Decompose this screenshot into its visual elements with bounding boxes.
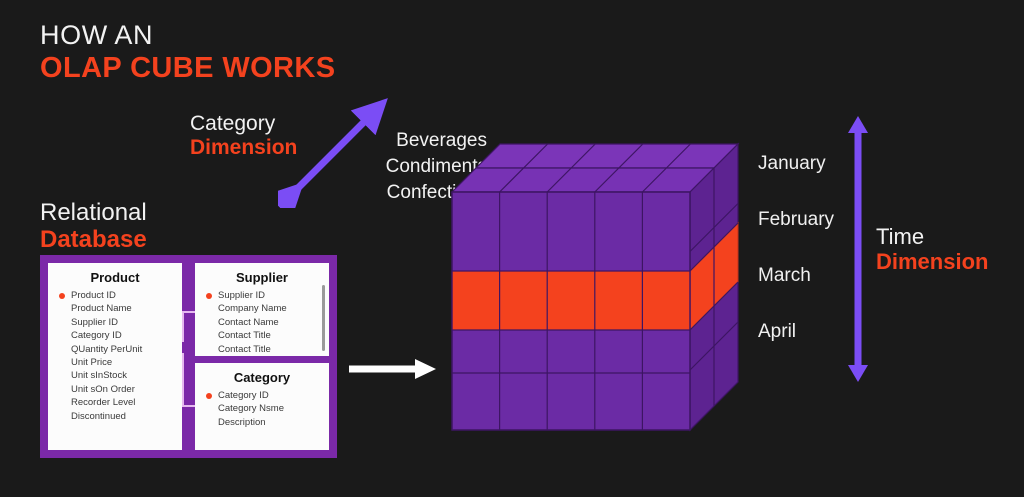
db-table-title: Supplier bbox=[195, 270, 329, 285]
time-member: February bbox=[758, 206, 858, 262]
time-dimension-heading: Time Dimension bbox=[876, 224, 988, 274]
db-field: Category Nsme bbox=[205, 402, 329, 415]
db-field-list: Product ID Product Name Supplier ID Cate… bbox=[48, 289, 182, 423]
db-field: Contact Name bbox=[205, 316, 329, 329]
db-field: Discontinued bbox=[58, 410, 182, 423]
db-field: Contact Title bbox=[205, 343, 329, 356]
olap-cube-infographic: HOW AN OLAP CUBE WORKS Category Dimensio… bbox=[0, 0, 1024, 497]
cube-right-face bbox=[690, 144, 738, 430]
relational-database-heading-bottom: Database bbox=[40, 227, 147, 254]
relation-connector-category-vertical bbox=[182, 353, 184, 407]
relation-connector-supplier-vertical bbox=[182, 311, 184, 341]
db-table-supplier[interactable]: Supplier Supplier ID Company Name Contac… bbox=[195, 263, 329, 356]
time-dimension-heading-top: Time bbox=[876, 224, 988, 249]
time-member: January bbox=[758, 150, 858, 206]
db-field: Product Name bbox=[58, 302, 182, 315]
relational-database-panel: Product Product ID Product Name Supplier… bbox=[40, 255, 337, 458]
time-dimension-members: January February March April bbox=[758, 150, 858, 374]
time-dimension-arrow-icon bbox=[846, 116, 870, 382]
db-table-title: Product bbox=[48, 270, 182, 285]
db-field: QUantity PerUnit bbox=[58, 343, 182, 356]
db-field: Unit sInStock bbox=[58, 369, 182, 382]
db-field: Contact Title bbox=[205, 329, 329, 342]
cube-top-face bbox=[452, 144, 738, 192]
relational-database-heading: Relational Database bbox=[40, 200, 147, 254]
db-field-list: Category ID Category Nsme Description bbox=[195, 389, 329, 429]
db-field: Category ID bbox=[205, 389, 329, 402]
transform-arrow-icon bbox=[349, 358, 437, 380]
db-table-title: Category bbox=[195, 370, 329, 385]
time-member: March bbox=[758, 262, 858, 318]
db-table-category[interactable]: Category Category ID Category Nsme Descr… bbox=[195, 363, 329, 450]
time-member: April bbox=[758, 318, 858, 374]
title-line-1: HOW AN bbox=[40, 22, 335, 49]
db-field: Unit Price bbox=[58, 356, 182, 369]
db-field: Unit sOn Order bbox=[58, 383, 182, 396]
db-field: Supplier ID bbox=[58, 316, 182, 329]
db-table-product[interactable]: Product Product ID Product Name Supplier… bbox=[48, 263, 182, 450]
page-title: HOW AN OLAP CUBE WORKS bbox=[40, 22, 335, 83]
supplier-table-scrollbar[interactable] bbox=[322, 285, 325, 351]
db-field: Description bbox=[205, 416, 329, 429]
db-field: Category ID bbox=[58, 329, 182, 342]
cube-front-face bbox=[452, 192, 690, 430]
title-line-2: OLAP CUBE WORKS bbox=[40, 54, 335, 83]
time-dimension-heading-bottom: Dimension bbox=[876, 249, 988, 274]
cube-highlighted-row bbox=[452, 271, 690, 330]
db-field: Product ID bbox=[58, 289, 182, 302]
db-field-list: Supplier ID Company Name Contact Name Co… bbox=[195, 289, 329, 356]
db-field: Supplier ID bbox=[205, 289, 329, 302]
db-field: Company Name bbox=[205, 302, 329, 315]
db-field: Recorder Level bbox=[58, 396, 182, 409]
relational-database-heading-top: Relational bbox=[40, 200, 147, 227]
olap-cube-graphic bbox=[440, 130, 770, 450]
